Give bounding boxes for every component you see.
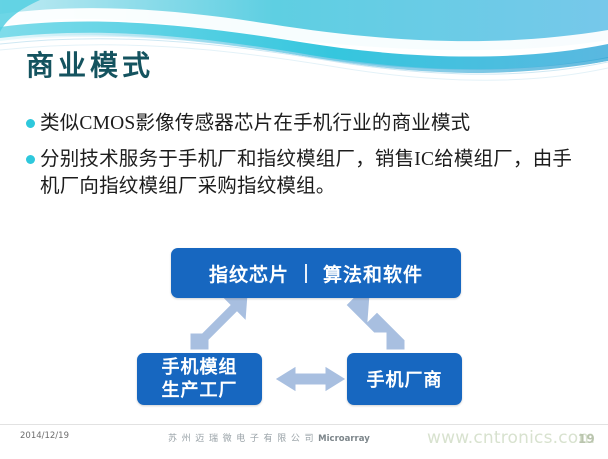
bullet-text: 分别技术服务于手机厂和指纹模组厂，销售IC给模组厂，由手机厂向指纹模组厂采购指纹… <box>40 146 586 200</box>
page-number: 19 <box>578 432 595 446</box>
bullet-dot-icon <box>26 119 35 128</box>
list-item: 类似CMOS影像传感器芯片在手机行业的商业模式 <box>26 110 586 137</box>
footer-company: 苏 州 迈 瑞 微 电 子 有 限 公 司 Microarray <box>168 431 370 444</box>
watermark: www.cntronics.com <box>427 428 595 448</box>
node-label-left: 指纹芯片 <box>209 260 289 287</box>
page-title: 商业模式 <box>26 44 154 84</box>
bullet-dot-icon <box>26 155 35 164</box>
diagram-node-phone-maker: 手机厂商 <box>347 353 462 405</box>
bullet-list: 类似CMOS影像传感器芯片在手机行业的商业模式 分别技术服务于手机厂和指纹模组厂… <box>26 110 586 209</box>
node-label-line2: 生产工厂 <box>162 379 238 402</box>
diagram-node-module-factory: 手机模组 生产工厂 <box>137 353 262 405</box>
list-item: 分别技术服务于手机厂和指纹模组厂，销售IC给模组厂，由手机厂向指纹模组厂采购指纹… <box>26 146 586 200</box>
bullet-text: 类似CMOS影像传感器芯片在手机行业的商业模式 <box>40 110 470 137</box>
footer-company-name: 苏 州 迈 瑞 微 电 子 有 限 公 司 <box>168 433 315 443</box>
diagram-node-chip-software: 指纹芯片 算法和软件 <box>171 248 461 298</box>
node-separator-icon <box>305 264 307 283</box>
node-label: 手机厂商 <box>367 366 443 392</box>
presentation-slide: 商业模式 类似CMOS影像传感器芯片在手机行业的商业模式 分别技术服务于手机厂和… <box>0 0 608 459</box>
node-label-line1: 手机模组 <box>162 356 238 379</box>
footer-brand-name: Microarray <box>318 434 370 444</box>
footer-divider <box>0 424 608 425</box>
node-label-right: 算法和软件 <box>323 260 423 287</box>
footer-date: 2014/12/19 <box>20 431 69 441</box>
business-model-diagram: 指纹芯片 算法和软件 手机模组 生产工厂 手机厂商 <box>0 238 608 413</box>
